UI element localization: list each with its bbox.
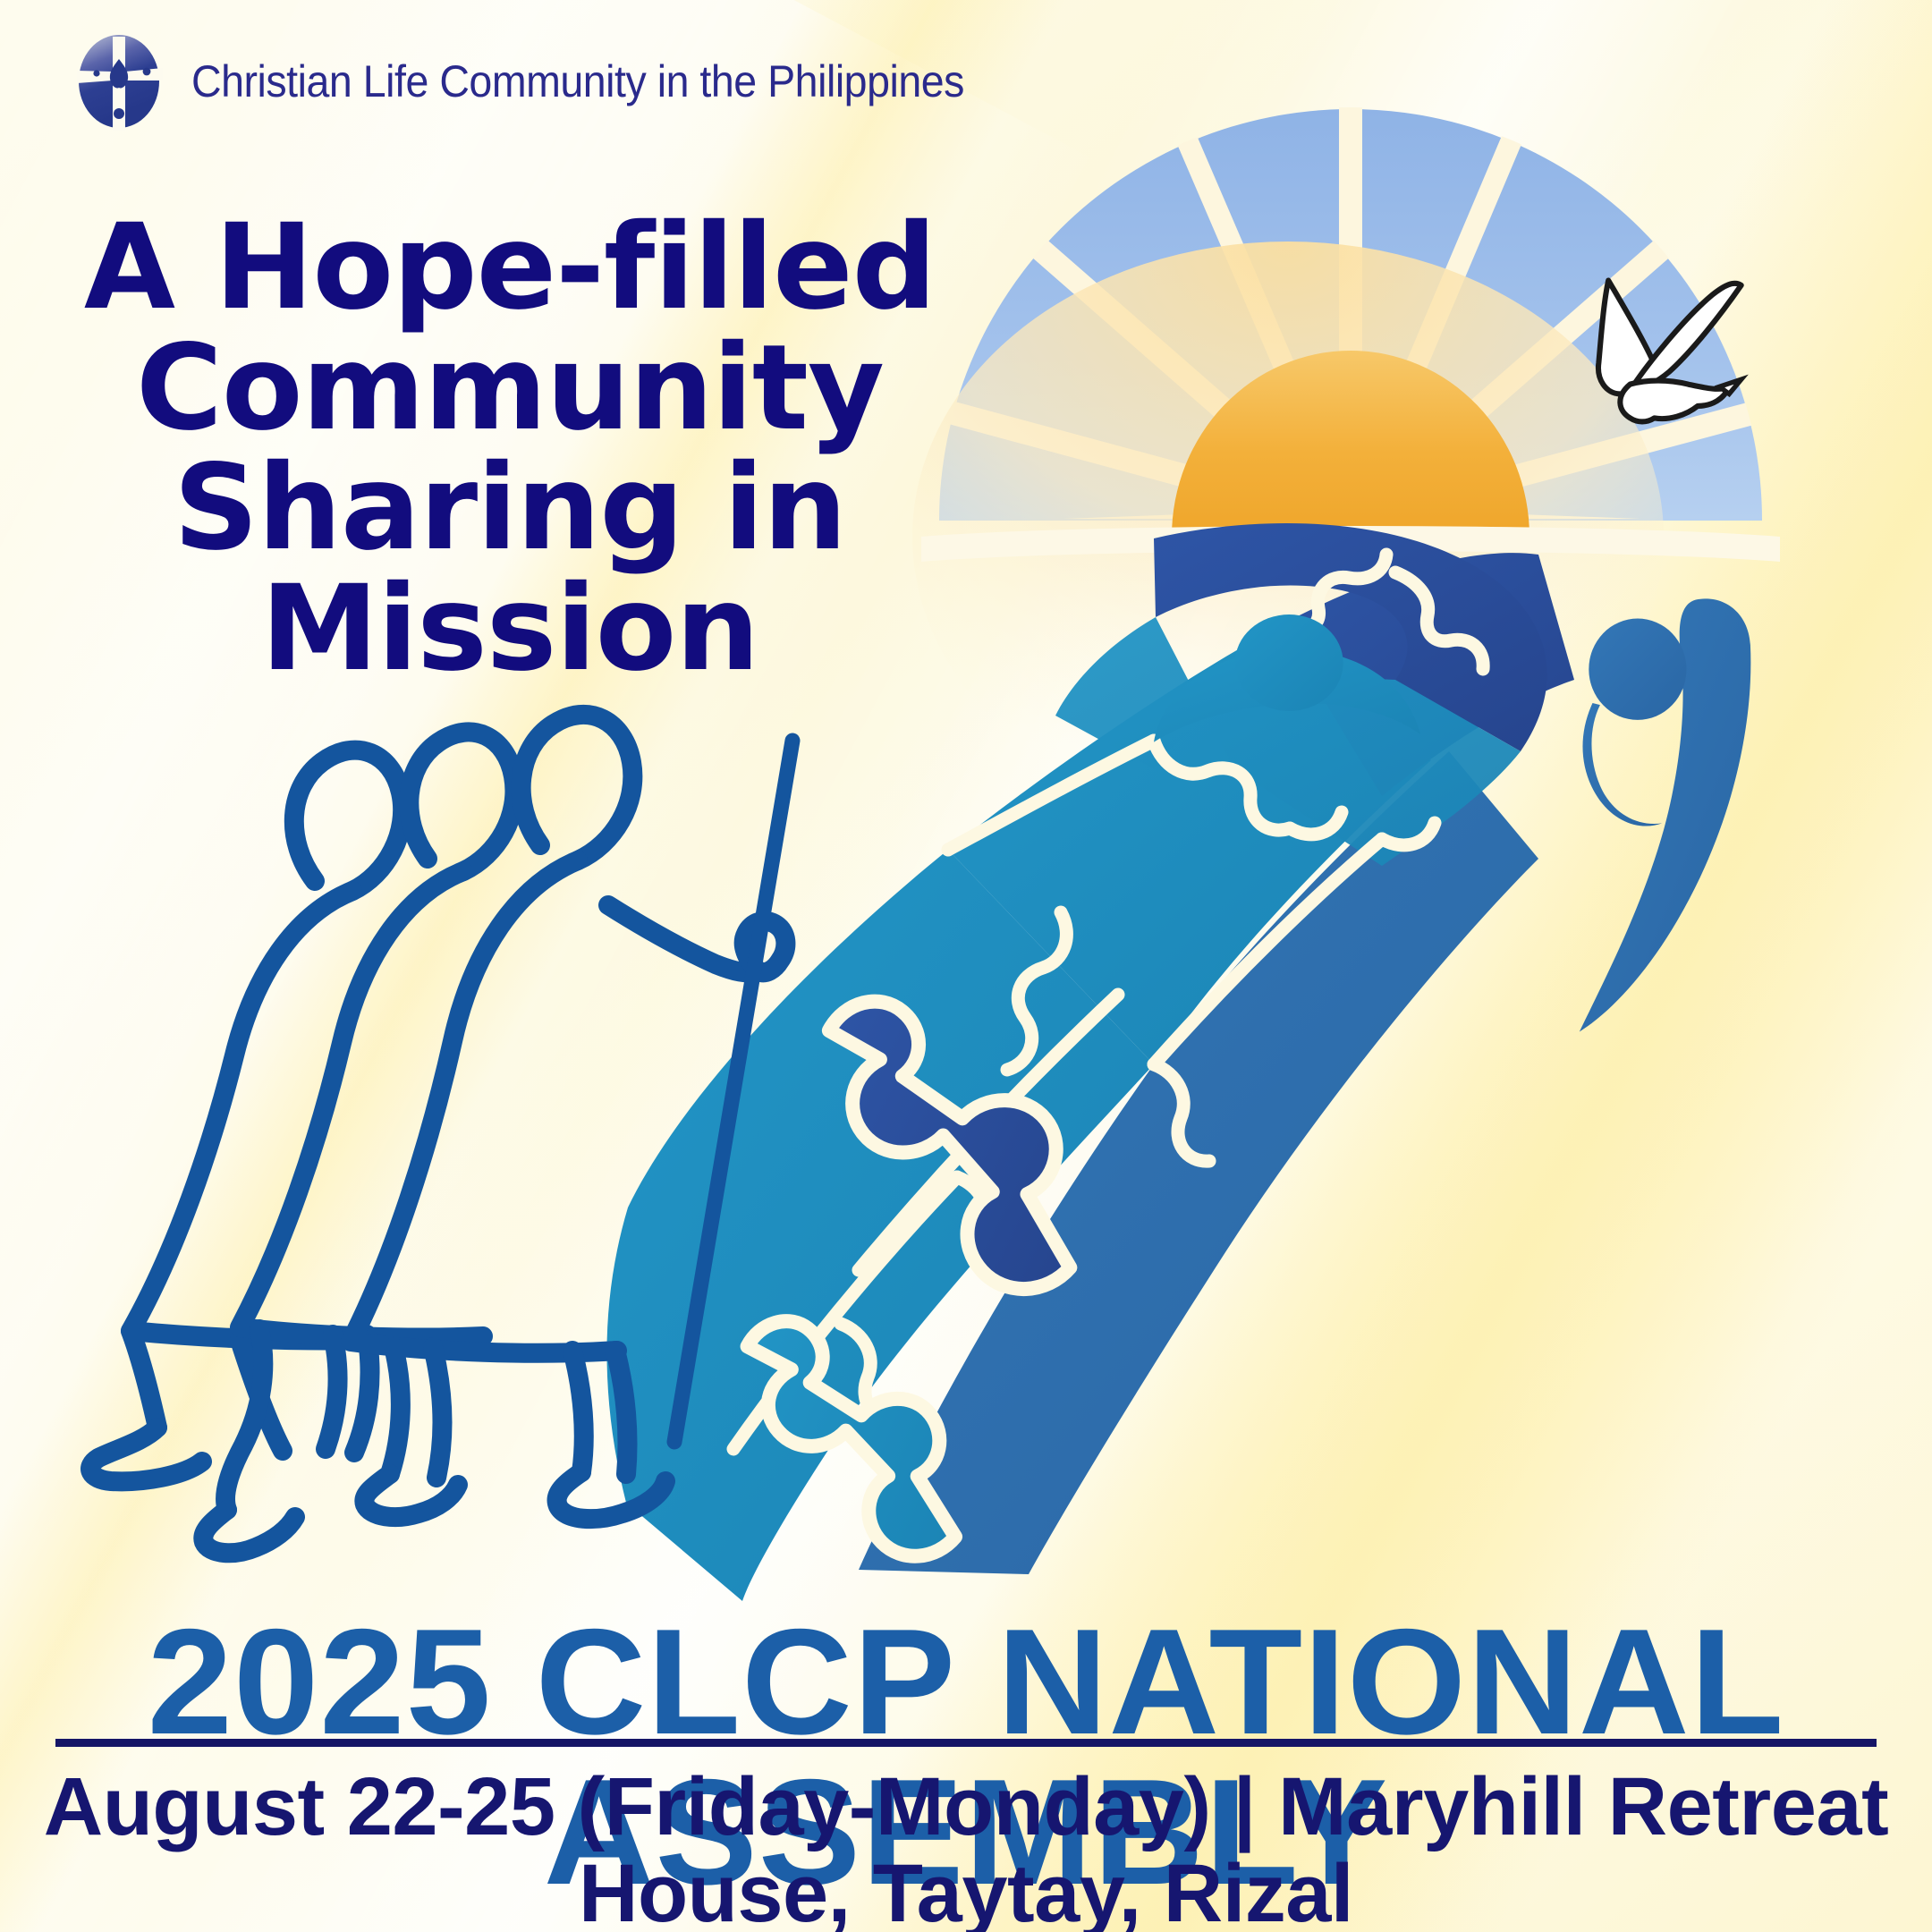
divider-rule: [55, 1739, 1877, 1747]
page-title: A Hope-filled Community Sharing in Missi…: [54, 208, 966, 690]
title-line-3: Sharing in: [54, 448, 966, 569]
event-details: August 22-25 (Friday-Monday) | Maryhill …: [0, 1764, 1932, 1932]
org-name: Christian Life Community in the Philippi…: [191, 55, 964, 107]
walking-staff-icon: [674, 741, 792, 1442]
poster-canvas: Christian Life Community in the Philippi…: [0, 0, 1932, 1932]
header: Christian Life Community in the Philippi…: [70, 29, 1022, 134]
clc-circle-cross-flame-logo: [70, 29, 168, 134]
title-line-2: Community: [54, 328, 966, 449]
title-line-1: A Hope-filled: [54, 208, 966, 328]
title-line-4: Mission: [54, 569, 966, 690]
